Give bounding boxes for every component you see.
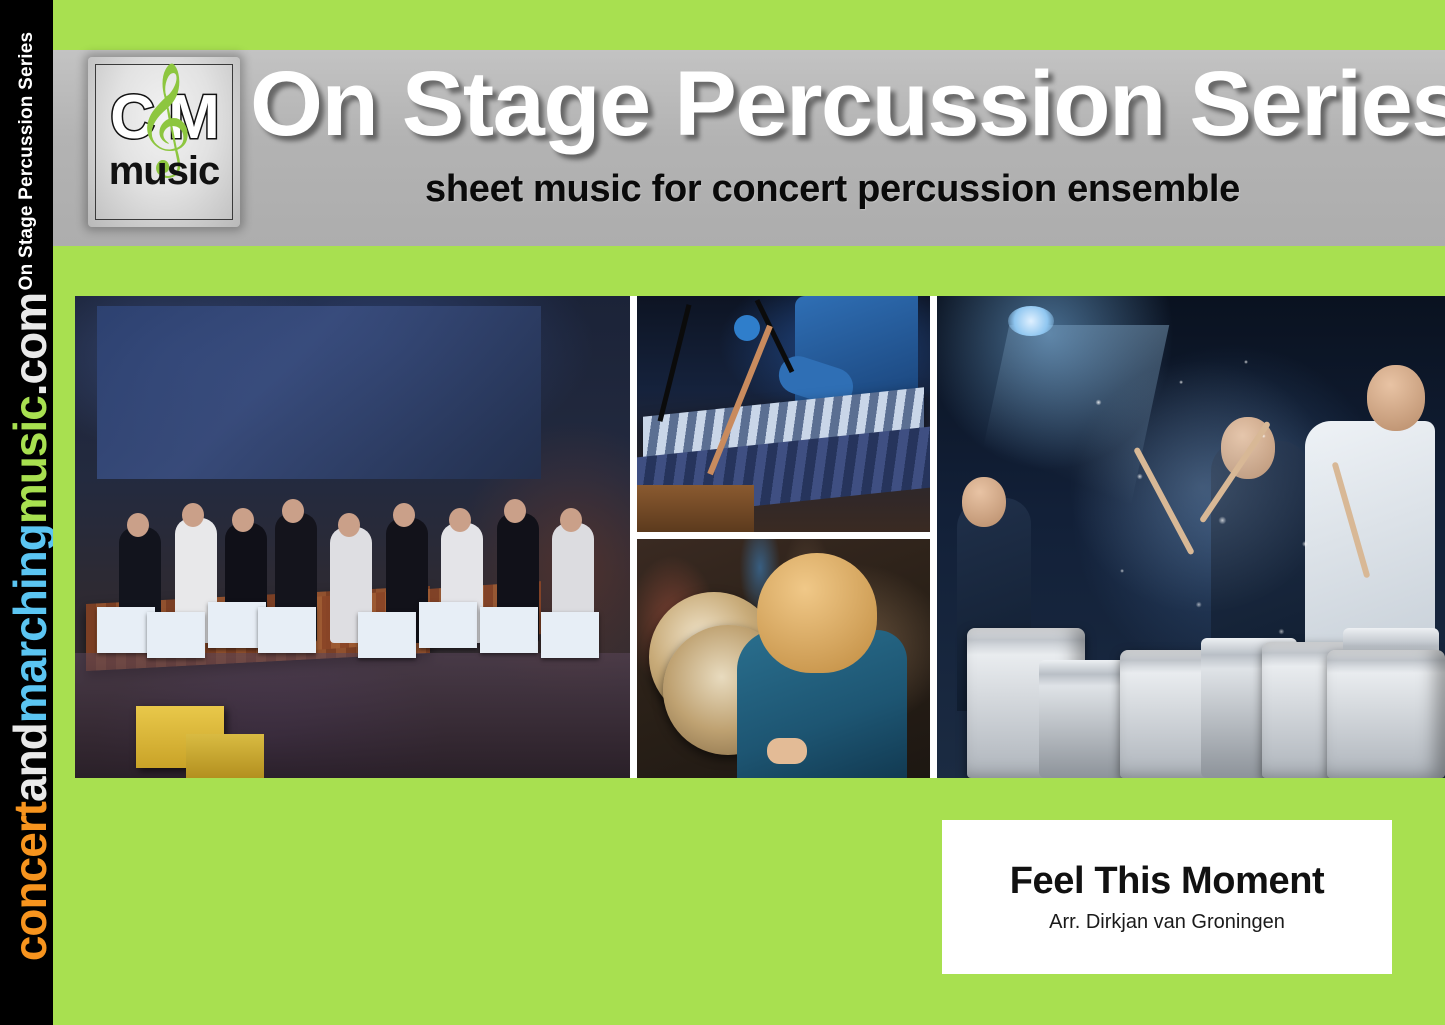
vibraphone-frame [637,485,754,532]
stage-prop-box-second [186,734,264,778]
cm-music-logo: C M 𝄞 music [88,57,240,227]
logo-cm-letters: C M [96,87,232,149]
stage-projection-screen [97,306,541,480]
cover-page: On Stage Percussion Series concertandmar… [0,0,1445,1025]
piece-title-card: Feel This Moment Arr. Dirkjan van Gronin… [942,820,1392,974]
url-part-music: music [4,396,53,524]
page-title: On Stage Percussion Series [250,56,1445,152]
photo-drums-water-splash [937,296,1445,778]
photo-cymbal-player [637,539,930,778]
collage-column-right [937,296,1445,778]
url-part-com: .com [4,293,53,396]
spine-bar: On Stage Percussion Series concertandmar… [0,0,53,1025]
photo-vibraphone-close-up [637,296,930,532]
photo-percussion-ensemble-on-stage [75,296,630,778]
piece-title: Feel This Moment [1010,860,1325,902]
logo-inner-frame: C M 𝄞 music [95,64,233,220]
performer-hair [757,553,877,673]
url-part-and: and [4,723,53,802]
piece-arranger: Arr. Dirkjan van Groningen [1049,910,1285,934]
microphone-stand [658,304,692,422]
performer-hand [767,738,807,764]
collage-column-left [75,296,630,778]
microphone-stand-second [754,299,794,373]
photo-collage [75,296,1445,778]
spine-series-label: On Stage Percussion Series [16,32,38,291]
mallet-head [734,315,760,341]
spine-website-url: concertandmarchingmusic.com [3,277,53,977]
page-subtitle: sheet music for concert percussion ensem… [250,168,1415,210]
collage-column-middle [637,296,930,778]
stage-spotlight [1008,306,1054,336]
url-part-concert: concert [4,802,53,961]
url-part-marching: marching [4,524,53,723]
logo-music-word: music [96,151,232,191]
